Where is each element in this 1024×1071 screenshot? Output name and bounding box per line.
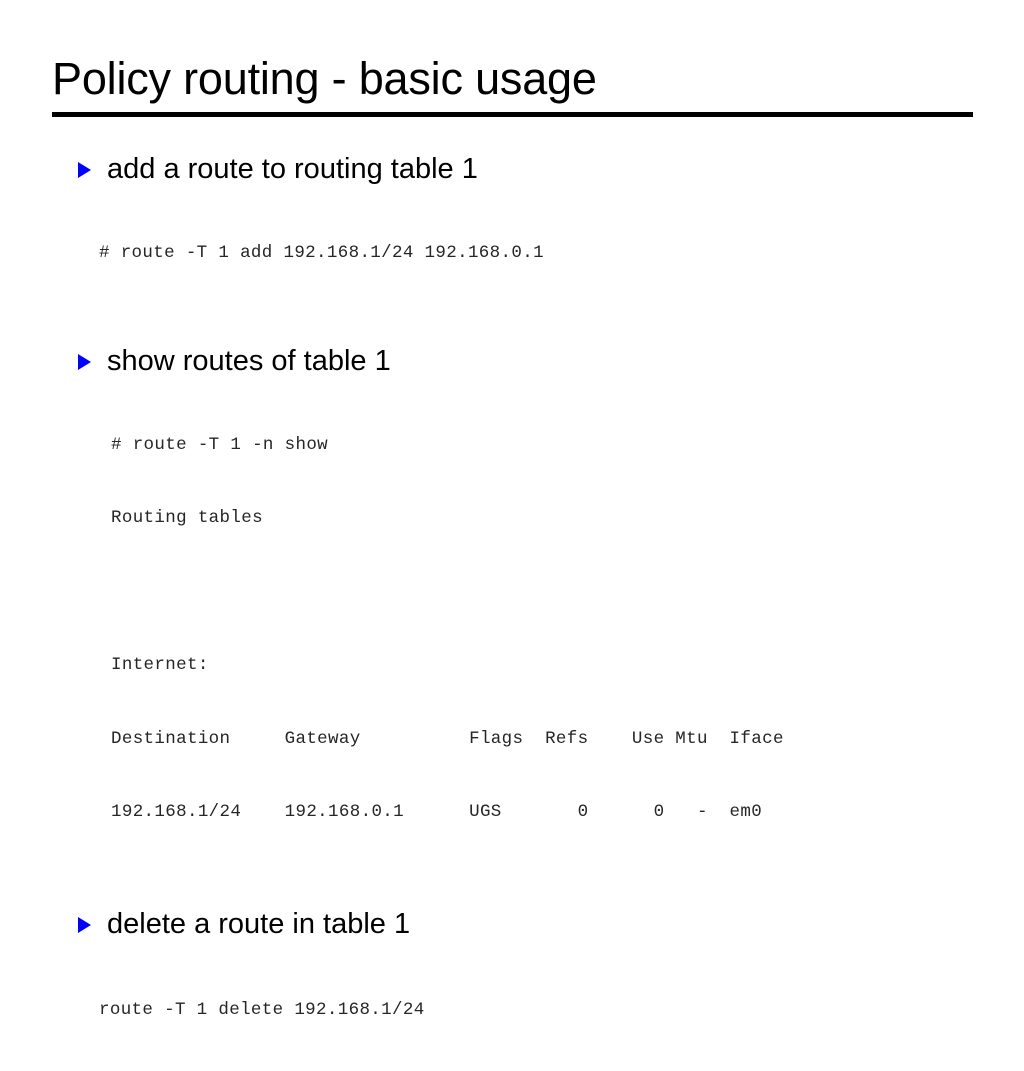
code-line-command: # route -T 1 -n show [111,433,1024,458]
bullet-label: show routes of table 1 [78,344,391,378]
bullet-label: add a route to routing table 1 [78,152,478,186]
triangle-right-icon [78,917,91,933]
routing-table-row: 192.168.1/24 192.168.0.1 UGS 0 0 - em0 [111,800,1024,825]
page-title: Policy routing - basic usage [52,52,973,105]
section-delete-route: delete a route in table 1 route -T 1 del… [0,907,1024,1071]
bullet-label: delete a route in table 1 [78,907,410,941]
code-line: # route -T 1 add 192.168.1/24 192.168.0.… [99,241,1024,266]
code-block-show: # route -T 1 -n show Routing tables Inte… [0,384,1024,874]
bullet-item: add a route to routing table 1 [0,152,1024,186]
section-add-route: add a route to routing table 1 # route -… [0,152,1024,315]
code-line-blank [111,580,1024,605]
triangle-right-icon [78,354,91,370]
title-block: Policy routing - basic usage [52,52,973,105]
routing-table-header: Destination Gateway Flags Refs Use Mtu I… [111,727,1024,752]
bullet-item: delete a route in table 1 [0,907,1024,941]
title-divider [52,112,973,117]
code-line-internet-caption: Internet: [111,653,1024,678]
code-line: route -T 1 delete 192.168.1/24 [99,998,1024,1023]
code-block-delete: route -T 1 delete 192.168.1/24 [0,949,1024,1071]
section-show-routes: show routes of table 1 # route -T 1 -n s… [0,344,1024,874]
slide-canvas: Policy routing - basic usage add a route… [0,0,1024,768]
code-line-routing-tables: Routing tables [111,506,1024,531]
code-block-add: # route -T 1 add 192.168.1/24 192.168.0.… [0,192,1024,315]
triangle-right-icon [78,162,91,178]
bullet-item: show routes of table 1 [0,344,1024,378]
slide-body: add a route to routing table 1 # route -… [0,152,1024,1071]
